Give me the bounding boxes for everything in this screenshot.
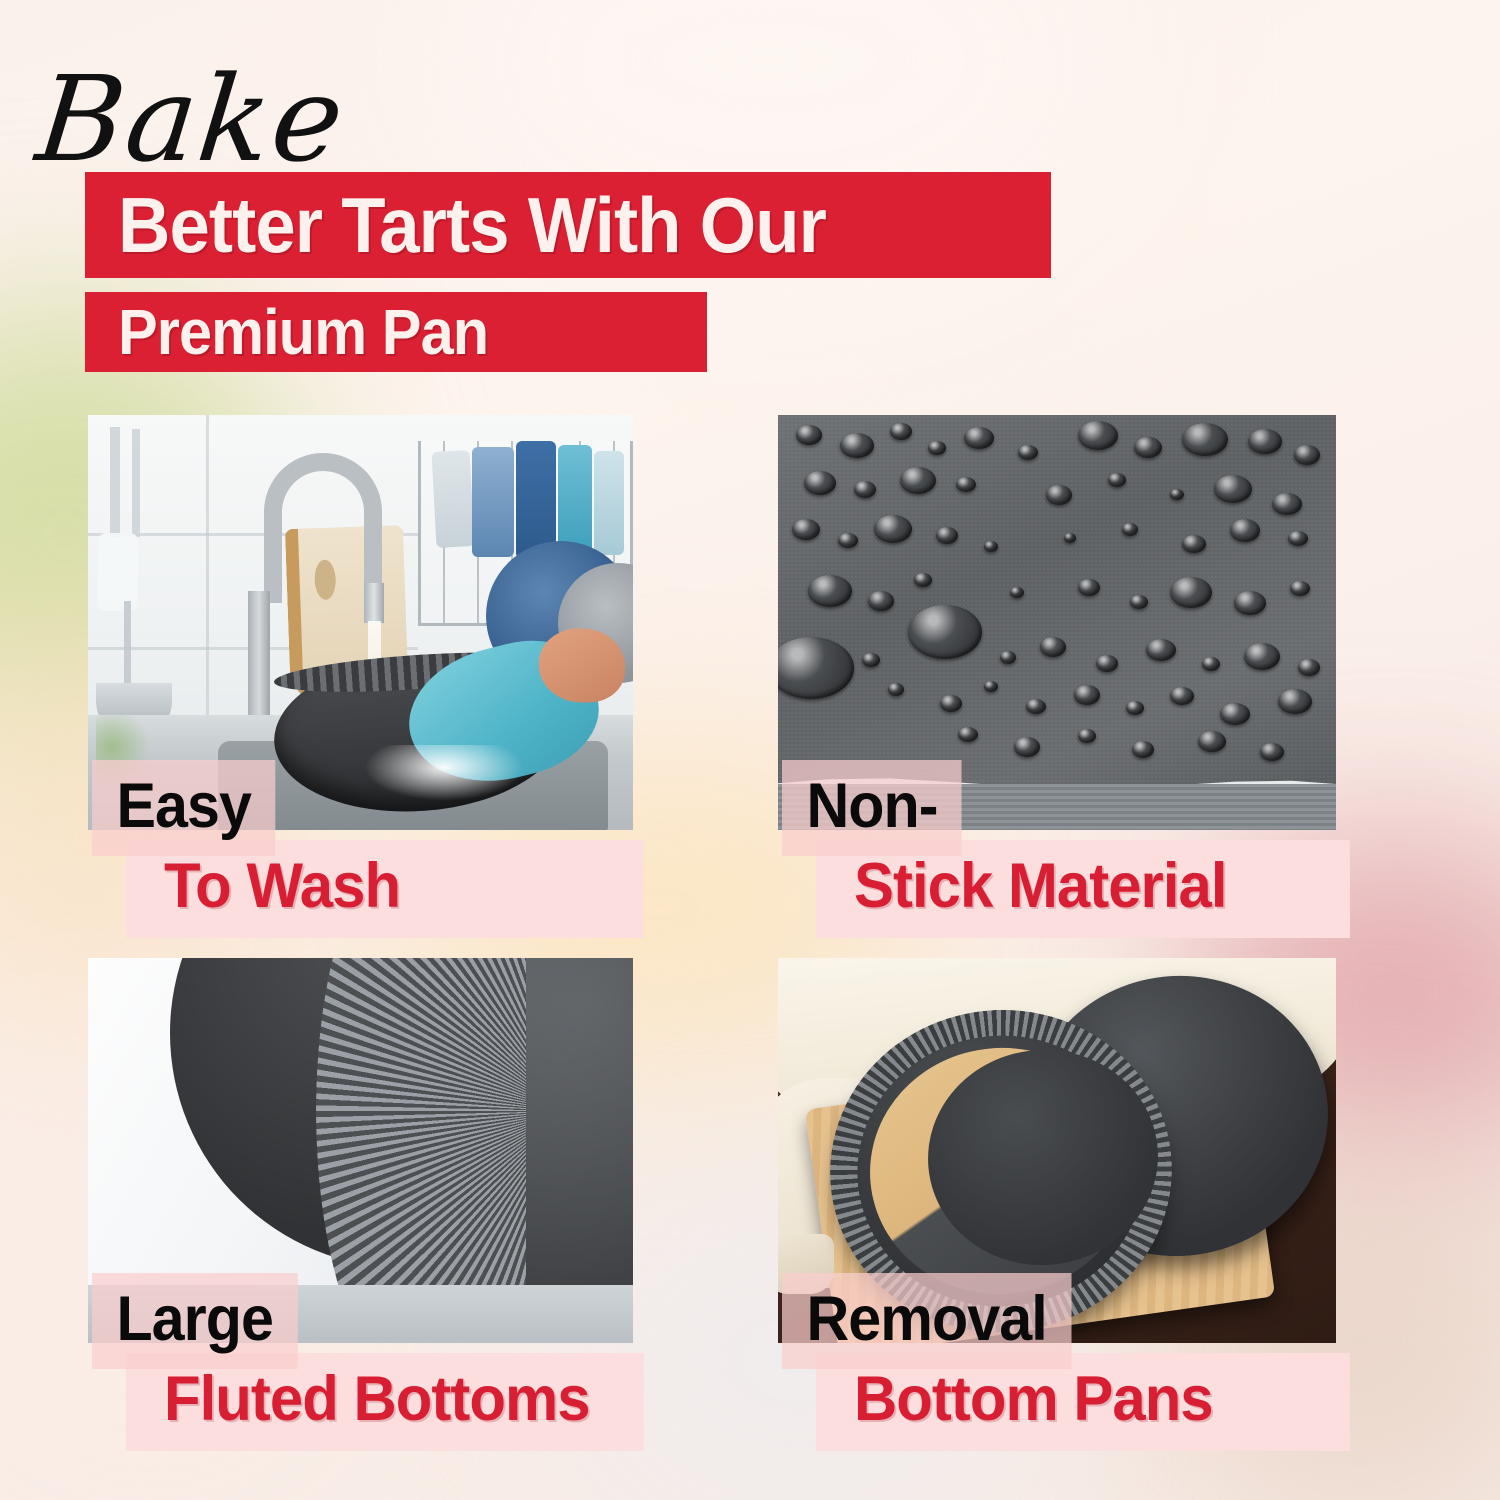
headline-line2-text: Premium Pan [118, 300, 488, 364]
water-droplet [1260, 743, 1284, 761]
water-droplet [1182, 535, 1206, 553]
water-droplet [868, 591, 894, 611]
hanging-spatula-handle [132, 429, 140, 537]
water-droplet [1146, 639, 1176, 661]
water-droplet-large [908, 605, 982, 659]
water-droplet [900, 467, 936, 494]
water-droplet [1134, 437, 1162, 458]
water-droplet [840, 433, 874, 458]
water-droplet [1078, 729, 1096, 743]
faucet-neck [264, 453, 382, 603]
water-droplet [808, 575, 852, 607]
water-droplet [1130, 595, 1148, 609]
water-droplet [1132, 741, 1154, 758]
water-droplet [936, 527, 958, 544]
water-droplet [1010, 587, 1024, 598]
water-droplet [1248, 429, 1282, 454]
water-droplet [792, 519, 820, 540]
water-droplet [1230, 519, 1260, 542]
water-droplet [804, 471, 836, 495]
water-droplet [1220, 703, 1250, 725]
feature-label-word1-removal: Removal [782, 1273, 1071, 1369]
water-droplet [1182, 423, 1228, 456]
water-droplet [1234, 591, 1266, 615]
feature-label-word1-non: Non- [782, 760, 962, 856]
water-droplet [956, 477, 976, 492]
soap-foam [364, 745, 524, 801]
water-droplet [796, 425, 822, 445]
water-droplet [958, 727, 978, 742]
water-droplet [984, 541, 998, 552]
water-droplet [874, 515, 912, 543]
water-droplet [1040, 637, 1066, 657]
water-droplet [1096, 655, 1118, 672]
water-droplet [928, 441, 946, 455]
spatula-head-icon [98, 533, 138, 611]
water-droplet [838, 533, 858, 548]
water-droplet [1214, 475, 1252, 503]
water-droplet [862, 653, 880, 667]
water-droplet [1026, 699, 1046, 714]
water-droplet [1278, 689, 1312, 714]
headline-banner-line2: Premium Pan [85, 292, 707, 372]
water-droplet [1014, 737, 1040, 757]
water-droplet [914, 573, 932, 587]
dish-item [594, 451, 624, 555]
water-droplet [1078, 579, 1100, 596]
water-droplet [890, 423, 912, 440]
water-droplet [1170, 577, 1212, 608]
water-droplet [1108, 473, 1126, 487]
dish-item [432, 450, 475, 548]
headline-line1-text: Better Tarts With Our [118, 186, 826, 264]
water-droplet [1126, 701, 1144, 715]
faucet-spout [364, 583, 384, 623]
water-droplet [888, 683, 904, 696]
water-droplet [964, 427, 994, 449]
water-droplet [1018, 445, 1038, 460]
water-droplet [1046, 485, 1072, 505]
script-word-bake: Bake [32, 60, 351, 178]
water-droplet [940, 695, 962, 712]
water-droplet [1000, 651, 1016, 664]
water-droplet [1170, 687, 1194, 705]
water-droplet [1074, 685, 1100, 705]
water-droplet [1202, 657, 1220, 671]
water-droplet [1170, 489, 1184, 500]
water-droplet [1198, 731, 1226, 752]
water-droplet [1272, 493, 1302, 515]
feature-label-word1-easy: Easy [92, 760, 275, 856]
water-droplet [1290, 581, 1310, 596]
hanging-spatula-handle [110, 427, 120, 537]
feature-label-word1-large: Large [92, 1273, 297, 1369]
tile-grout-line [206, 415, 209, 715]
water-droplet [1064, 533, 1076, 543]
water-droplet [1288, 531, 1308, 546]
water-droplet [1294, 445, 1320, 465]
water-droplet [1244, 643, 1280, 670]
water-droplet [1122, 523, 1138, 536]
water-droplet [1298, 659, 1320, 676]
water-droplet [984, 681, 998, 692]
dish-item [472, 447, 514, 557]
water-droplet [1078, 421, 1118, 450]
water-droplet [854, 481, 876, 498]
